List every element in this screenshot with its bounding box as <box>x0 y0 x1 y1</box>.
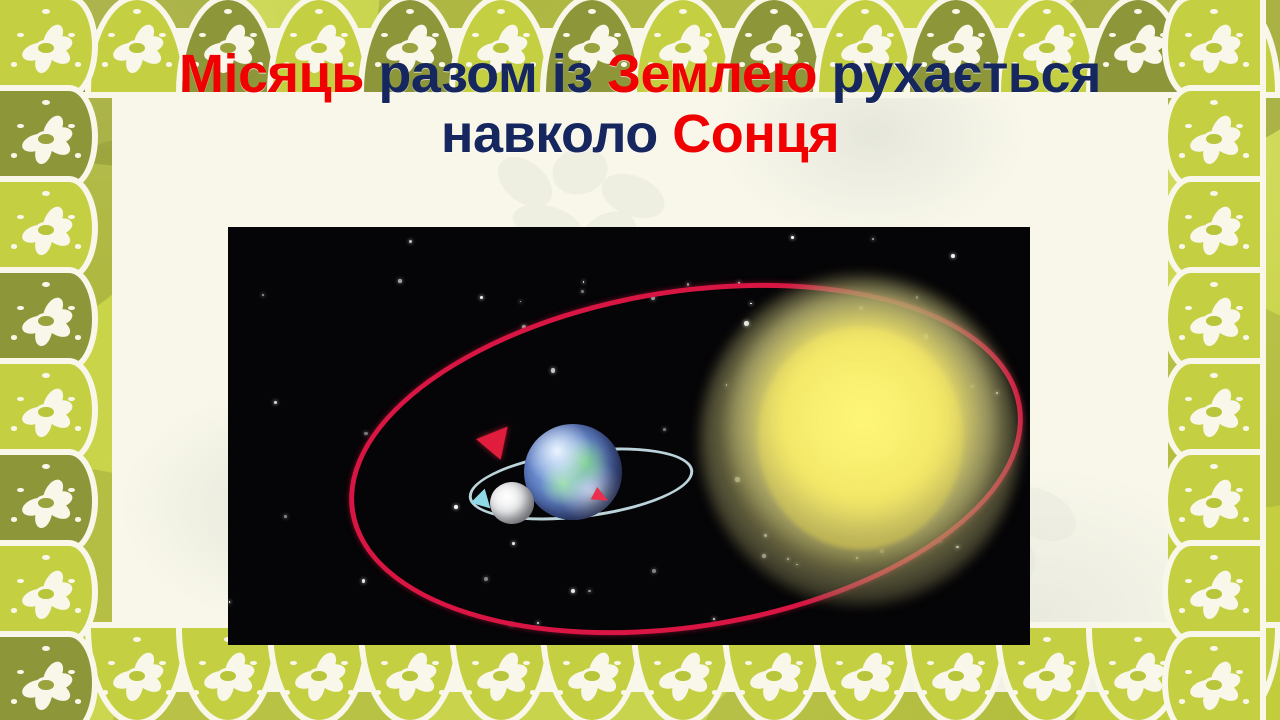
title-segment-2: разом із <box>364 44 607 104</box>
title-segment-1: Місяць <box>179 44 364 104</box>
star <box>581 290 585 294</box>
earth-icon <box>524 424 622 520</box>
star <box>583 281 585 283</box>
star <box>274 401 277 404</box>
star <box>364 432 368 436</box>
star <box>229 601 230 602</box>
star <box>480 296 483 299</box>
slide: Місяць разом із Землею рухається навколо… <box>0 0 1280 720</box>
star <box>872 238 874 240</box>
slide-title: Місяць разом із Землею рухається навколо… <box>150 44 1130 165</box>
star <box>520 301 521 302</box>
star <box>951 254 955 258</box>
star <box>262 294 264 296</box>
star <box>398 279 402 283</box>
star <box>409 240 412 243</box>
star <box>791 236 794 239</box>
sun-foreground-glow <box>728 289 998 559</box>
moon-icon <box>490 482 534 524</box>
star <box>687 283 689 285</box>
star <box>362 579 366 583</box>
title-segment-5: Сонця <box>672 104 839 164</box>
star <box>284 515 287 518</box>
sun-earth-moon-diagram <box>228 227 1030 645</box>
title-segment-3: Землею <box>607 44 817 104</box>
